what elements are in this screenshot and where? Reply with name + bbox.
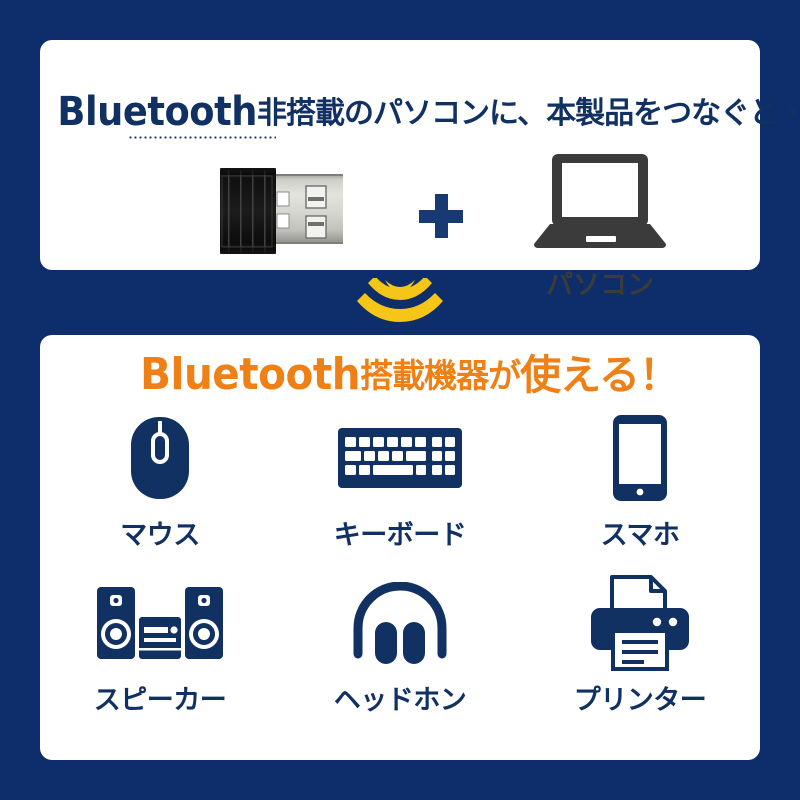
- keyboard-icon: [338, 415, 462, 501]
- bottom-heading-latin: Bluetooth: [140, 353, 360, 397]
- top-panel: Bluetooth非搭載のパソコンに、本製品をつなぐと・・・: [40, 40, 760, 270]
- smartphone-icon: [612, 415, 668, 501]
- device-label-keyboard: キーボード: [334, 513, 467, 552]
- supported-device-grid: マウス: [40, 415, 760, 745]
- device-cell-mouse: マウス: [40, 415, 280, 580]
- device-cell-headphones: ヘッドホン: [280, 580, 520, 745]
- device-label-headphones: ヘッドホン: [334, 678, 467, 717]
- plus-icon: [417, 192, 465, 240]
- top-heading-japanese: 非搭載のパソコンに、本製品をつなぐと・・・: [257, 99, 800, 129]
- printer-icon: [589, 580, 691, 666]
- device-label-speakers: スピーカー: [94, 678, 227, 717]
- device-cell-printer: プリンター: [520, 580, 760, 745]
- usb-bluetooth-dongle: [218, 166, 344, 258]
- device-cell-smartphone: スマホ: [520, 415, 760, 580]
- top-heading: Bluetooth非搭載のパソコンに、本製品をつなぐと・・・: [40, 92, 760, 132]
- device-label-mouse: マウス: [120, 513, 200, 552]
- bluetooth-dotted-underline: [128, 136, 276, 139]
- bottom-heading-japanese-big: 使える！: [520, 355, 679, 396]
- speakers-icon: [97, 580, 223, 666]
- headphones-icon: [349, 580, 451, 666]
- bottom-heading: Bluetooth搭載機器が使える！: [40, 353, 760, 397]
- promo-infographic: Bluetooth非搭載のパソコンに、本製品をつなぐと・・・: [0, 0, 800, 800]
- device-cell-keyboard: キーボード: [280, 415, 520, 580]
- device-label-smartphone: スマホ: [601, 513, 680, 552]
- device-cell-speakers: スピーカー: [40, 580, 280, 745]
- mouse-icon: [129, 415, 191, 501]
- computer-label: パソコン: [520, 263, 680, 302]
- laptop-icon: [534, 152, 666, 250]
- top-heading-latin: Bluetooth: [57, 92, 257, 132]
- bottom-heading-japanese-small: 搭載機器が: [360, 359, 520, 392]
- wireless-wave-icon: [355, 278, 445, 326]
- device-label-printer: プリンター: [574, 678, 707, 717]
- computer-block: パソコン: [520, 152, 680, 292]
